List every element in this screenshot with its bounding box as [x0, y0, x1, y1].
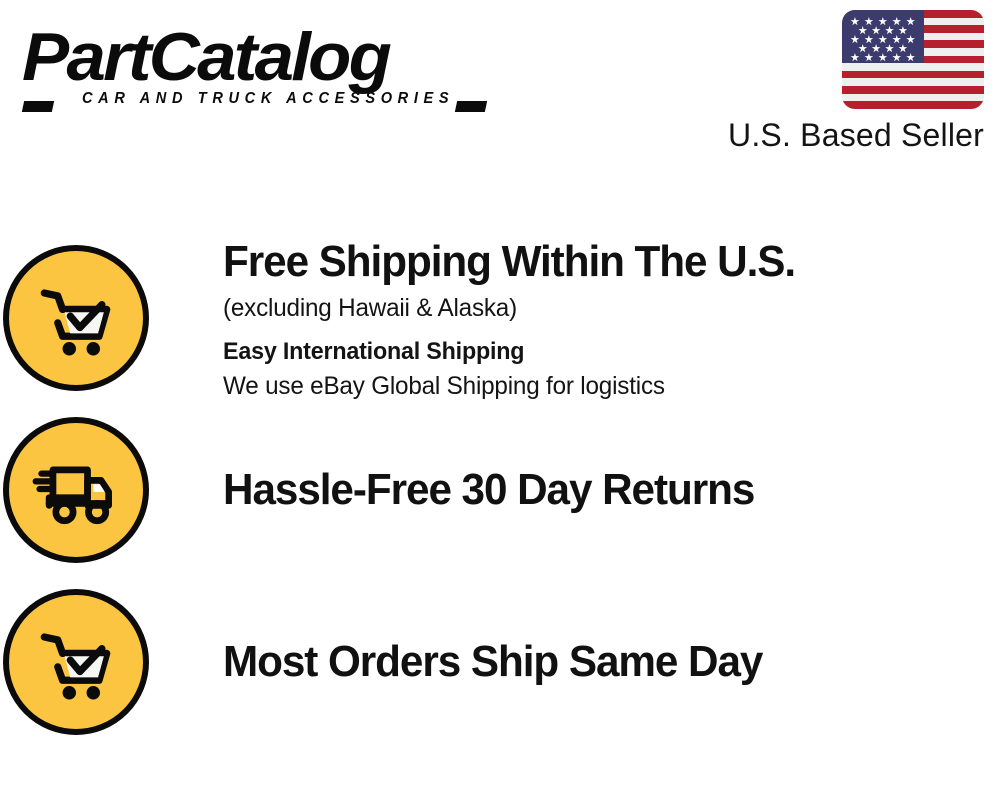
star-row	[848, 53, 918, 62]
us-based-seller-badge: U.S. Based Seller	[718, 10, 984, 154]
feature-row: Free Shipping Within The U.S. (excluding…	[0, 232, 1000, 404]
feature-list: Free Shipping Within The U.S. (excluding…	[0, 232, 1000, 748]
flag-stripe	[842, 94, 984, 102]
brand-wordmark: PartCatalog	[22, 20, 511, 94]
star-icon	[872, 44, 881, 53]
feature-subtext-international: Easy International Shipping	[223, 335, 977, 369]
star-icon	[898, 26, 907, 35]
star-icon	[906, 53, 915, 62]
feature-row: Most Orders Ship Same Day	[0, 576, 1000, 748]
feature-text-wrap: Free Shipping Within The U.S. (excluding…	[151, 236, 1000, 403]
feature-subtext-logistics: We use eBay Global Shipping for logistic…	[223, 369, 977, 403]
star-icon	[892, 35, 901, 44]
star-icon	[892, 53, 901, 62]
star-icon	[850, 53, 859, 62]
logo-left-accent-bar	[22, 101, 54, 112]
brand-tagline: CAR AND TRUCK ACCESSORIES	[82, 90, 467, 108]
star-icon	[872, 26, 881, 35]
star-icon	[858, 44, 867, 53]
star-row	[848, 17, 918, 26]
flag-stripe	[842, 78, 984, 86]
star-icon	[878, 35, 887, 44]
feature-heading: Free Shipping Within The U.S.	[223, 236, 969, 288]
banner-header: PartCatalog CAR AND TRUCK ACCESSORIES	[0, 0, 1000, 170]
star-icon	[864, 17, 873, 26]
feature-text-wrap: Most Orders Ship Same Day	[151, 636, 1000, 688]
logo-right-accent-bar	[455, 101, 487, 112]
star-icon	[885, 44, 894, 53]
star-icon	[906, 17, 915, 26]
feature-icon-wrap	[0, 245, 151, 391]
shopping-cart-check-icon	[3, 245, 149, 391]
star-icon	[878, 53, 887, 62]
feature-icon-wrap	[0, 589, 151, 735]
flag-stripe	[842, 86, 984, 94]
feature-row: Hassle-Free 30 Day Returns	[0, 404, 1000, 576]
star-icon	[878, 17, 887, 26]
delivery-truck-icon	[3, 417, 149, 563]
star-icon	[858, 26, 867, 35]
promo-banner: PartCatalog CAR AND TRUCK ACCESSORIES	[0, 0, 1000, 800]
star-icon	[885, 26, 894, 35]
star-icon	[906, 35, 915, 44]
us-flag-icon	[842, 10, 984, 109]
flag-stripe	[842, 63, 984, 71]
us-based-seller-label: U.S. Based Seller	[718, 116, 984, 154]
flag-stripe	[842, 71, 984, 79]
flag-stripe	[842, 101, 984, 109]
star-row	[848, 35, 918, 44]
feature-heading: Most Orders Ship Same Day	[223, 636, 969, 688]
star-icon	[850, 17, 859, 26]
feature-heading: Hassle-Free 30 Day Returns	[223, 464, 969, 516]
feature-icon-wrap	[0, 417, 151, 563]
star-icon	[892, 17, 901, 26]
shopping-cart-check-icon	[3, 589, 149, 735]
star-icon	[850, 35, 859, 44]
flag-canton	[842, 10, 924, 63]
star-icon	[864, 35, 873, 44]
flag-stars	[842, 10, 924, 63]
star-icon	[864, 53, 873, 62]
partcatalog-logo: PartCatalog CAR AND TRUCK ACCESSORIES	[22, 20, 492, 115]
star-row	[848, 26, 918, 35]
feature-subtext-exclusions: (excluding Hawaii & Alaska)	[223, 291, 977, 325]
feature-text-wrap: Hassle-Free 30 Day Returns	[151, 464, 1000, 516]
star-row	[848, 44, 918, 53]
star-icon	[898, 44, 907, 53]
